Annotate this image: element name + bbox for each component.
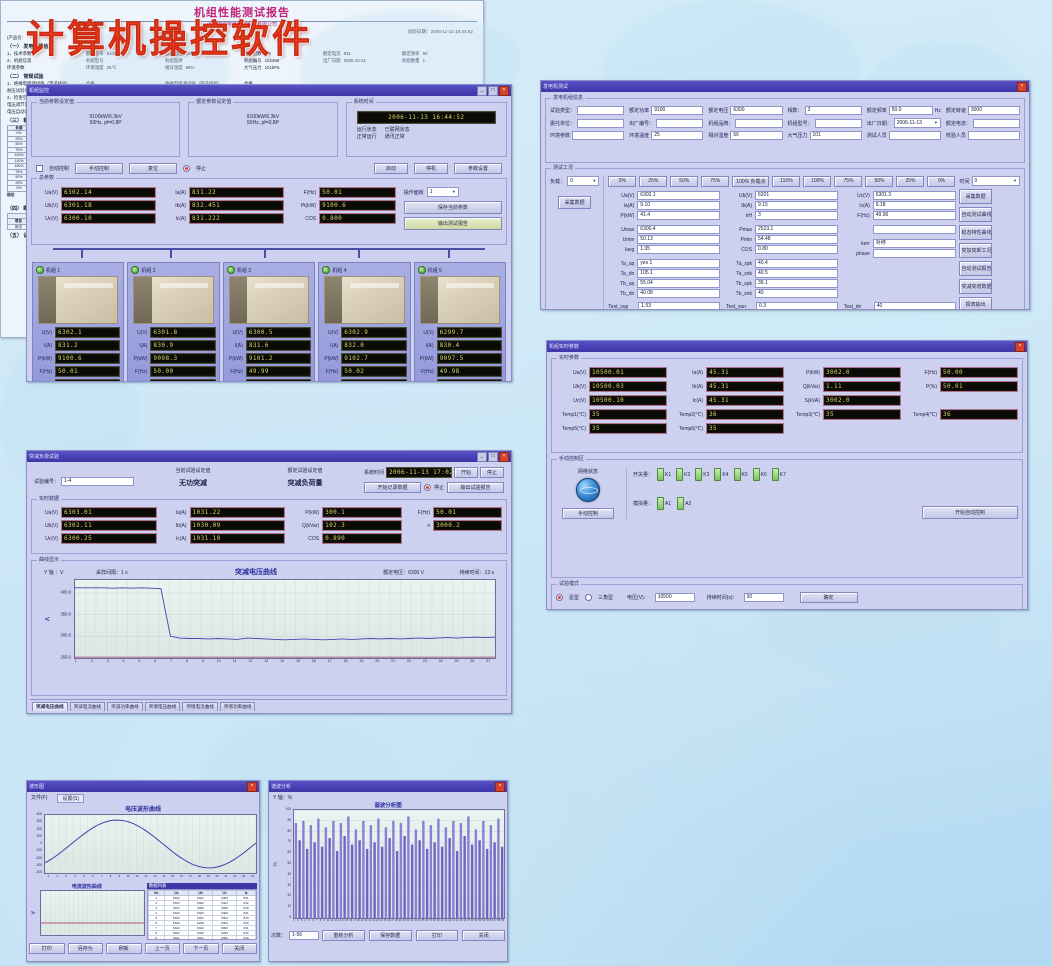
readout-key: U(V) bbox=[36, 330, 52, 336]
flat-wave-svg bbox=[41, 891, 144, 935]
harm-count-input[interactable]: 1-56 bbox=[289, 931, 319, 940]
wave-y-ticks: 4003002001000-100-200-300-400 bbox=[29, 814, 43, 872]
measure-value[interactable] bbox=[873, 225, 956, 234]
auto-control-checkbox[interactable] bbox=[36, 165, 43, 172]
titlebar-test[interactable]: 突减负荷试验 _ □ × bbox=[27, 451, 511, 462]
report-info-cell: 额定电流831 bbox=[323, 51, 398, 57]
load-step-button[interactable]: 25% bbox=[639, 176, 667, 187]
switch-toggle[interactable] bbox=[734, 468, 741, 481]
harmonic-bar bbox=[310, 825, 312, 918]
x-tick-label: 12 bbox=[142, 874, 151, 880]
voltage-drop-svg bbox=[75, 580, 495, 658]
measure-value[interactable]: 50.13 bbox=[637, 235, 720, 244]
switch-toggle[interactable] bbox=[676, 468, 683, 481]
measure-value[interactable]: 1.53 bbox=[638, 302, 720, 310]
x-tick-label: 3 bbox=[100, 659, 116, 663]
chevron-down-icon: ▼ bbox=[1013, 177, 1017, 185]
param-field-input[interactable] bbox=[968, 131, 1020, 140]
measure-row: Pmin54.48 bbox=[726, 235, 838, 244]
measure-value[interactable]: 40.5 bbox=[755, 269, 838, 278]
load-step-button[interactable]: 25% bbox=[896, 176, 924, 187]
param-field-label: 相对湿度 bbox=[708, 132, 728, 139]
stop-radio[interactable] bbox=[183, 165, 190, 172]
led-row: Ub(V)10500.03Ib(A)45.31Q(kVar)1.11P(%)50… bbox=[556, 381, 1018, 392]
harmonic-bar bbox=[325, 827, 327, 918]
titlebar-title: 机组监控 bbox=[29, 87, 477, 94]
measure-value[interactable]: 6301.3 bbox=[873, 191, 956, 200]
param-field-input[interactable] bbox=[973, 119, 1020, 128]
switch-bank[interactable]: K1K2K3K4K5K6K7 bbox=[657, 468, 790, 481]
window-main-control[interactable]: 机组监控 _ □ × 当前参数设定值 9100kW/6.3kV 50Hz, pf… bbox=[26, 84, 512, 382]
switch-label-item: K5 bbox=[742, 472, 748, 478]
measure-value[interactable] bbox=[873, 249, 956, 258]
param-field-label: 环境参数 bbox=[550, 132, 570, 139]
param-action-button[interactable]: 稳态特性曲线 bbox=[959, 225, 991, 240]
param-field-input[interactable] bbox=[572, 131, 624, 140]
param-field-select[interactable]: 2006-11-13▼ bbox=[894, 118, 941, 128]
param-field-label: 额定频率 bbox=[867, 107, 887, 114]
measure-key: Ta_spk bbox=[726, 261, 752, 267]
readout-value: 6300.25 bbox=[61, 533, 157, 544]
duration-field-input[interactable]: 30 bbox=[744, 593, 784, 602]
x-tick-label: 56 bbox=[501, 919, 505, 927]
param-action-buttons[interactable]: 时间0▼采集数据自动测试曲线稳态特性曲线突加突卸工况自动测试报告突减突增数据报表… bbox=[959, 176, 1020, 310]
load-step-buttons[interactable]: 0%25%50%75%100% 负载点110%100%75%50%25%0% bbox=[608, 176, 955, 187]
analog-label-item: A1 bbox=[665, 501, 671, 507]
record-data-button[interactable]: 开始记录数据 bbox=[364, 482, 421, 493]
head-rated-title: 额定试验设定值 bbox=[252, 467, 358, 474]
measure-value[interactable]: 6301 bbox=[755, 191, 838, 200]
close-button[interactable]: × bbox=[499, 452, 509, 462]
measure-value[interactable]: 9.15 bbox=[755, 201, 838, 210]
param-field-label: 测试人员 bbox=[867, 132, 887, 139]
minimize-button[interactable]: _ bbox=[477, 452, 487, 462]
measure-value[interactable]: 55.04 bbox=[637, 279, 720, 288]
window-load-test[interactable]: 突减负荷试验 _ □ × 试验编号： 1-4 当前试验设定值 无功突减 额定试验… bbox=[26, 450, 512, 714]
panel-select-row[interactable]: 操作面板 1 ▼ bbox=[404, 187, 502, 197]
readout-value: 45.31 bbox=[706, 367, 784, 378]
close-button[interactable]: × bbox=[499, 86, 509, 96]
harmonic-bar bbox=[295, 823, 297, 918]
harmonic-bar bbox=[497, 819, 499, 918]
waveform-footer-button[interactable]: 刷新 bbox=[106, 943, 142, 954]
param-field-input[interactable] bbox=[735, 119, 782, 128]
load-step-button[interactable]: 75% bbox=[834, 176, 862, 187]
switch-toggle[interactable] bbox=[695, 468, 702, 481]
x-tick-label: 22 bbox=[401, 659, 417, 663]
readout-key: Ib(A) bbox=[165, 523, 187, 529]
waveform-footer-button[interactable]: 关闭 bbox=[222, 943, 258, 954]
measure-value[interactable]: 9.10 bbox=[637, 201, 720, 210]
stop-button[interactable]: 停机 bbox=[414, 163, 448, 174]
param-time-select[interactable]: 0▼ bbox=[972, 176, 1021, 186]
titlebar-buttons[interactable]: _ □ × bbox=[477, 452, 509, 462]
table-row[interactable]: 9630163016302830 bbox=[148, 936, 255, 941]
chevron-down-icon: ▼ bbox=[592, 177, 596, 185]
report-info-label: 环境温度 bbox=[86, 65, 104, 71]
x-tick-label: 5 bbox=[80, 874, 89, 880]
chart-tab[interactable]: 突增功率曲线 bbox=[220, 702, 256, 711]
chart-duration-label: 持续时间：13 s bbox=[424, 569, 494, 576]
measure-row bbox=[844, 225, 956, 234]
device-header: 机组 5 bbox=[418, 266, 502, 274]
manual-control-button[interactable]: 手动控制 bbox=[75, 163, 123, 174]
measure-value[interactable]: 1.05 bbox=[637, 245, 720, 254]
readout-value: 830.4 bbox=[437, 340, 502, 351]
head-rated: 额定试验设定值 突减负荷量 bbox=[252, 467, 358, 488]
confirm-button[interactable]: 确定 bbox=[800, 592, 858, 603]
param-field-input[interactable] bbox=[815, 119, 862, 128]
load-step-button[interactable]: 100% bbox=[803, 176, 831, 187]
readout-key: n bbox=[227, 382, 243, 383]
readout-key: Ic(A) bbox=[164, 216, 186, 222]
param-field-input[interactable]: 50.0 bbox=[889, 106, 933, 115]
y-tick-label: 30 bbox=[287, 883, 291, 887]
readout-column-power: F(Hz) 50.01 Pt(kW) 9100.6 COS 0.800 bbox=[292, 187, 396, 230]
chart-rated-label: 额定电压：6300 V bbox=[346, 569, 424, 576]
measure-value[interactable]: 40 bbox=[755, 289, 838, 298]
waveform-footer-buttons[interactable]: 打印另存为刷新上一页下一页关闭 bbox=[29, 943, 257, 954]
load-step-button[interactable]: 100% 负载点 bbox=[732, 176, 769, 187]
param-field-input[interactable]: 3000 bbox=[968, 106, 1020, 115]
readout-value: 6300.5 bbox=[246, 327, 311, 338]
readout-key: n bbox=[418, 382, 434, 383]
window-waveform[interactable]: 波形图 × 文件(F) 设置(S) 电压波形曲线 4003002001000-1… bbox=[26, 780, 260, 962]
measure-bottom-field: Test_sup1.53 bbox=[608, 302, 720, 310]
analog-bank[interactable]: A1A2 bbox=[657, 497, 696, 510]
measure-value[interactable]: yes 1 bbox=[637, 259, 720, 268]
harmonics-footer-button[interactable]: 关闭 bbox=[462, 930, 505, 941]
param-field-input[interactable]: 9100 bbox=[651, 106, 703, 115]
data-table[interactable]: NoUaUbUcIa163026301630083126303630263018… bbox=[147, 889, 257, 940]
x-tick-label: 11 bbox=[227, 659, 243, 663]
led-field: Temp3(℃)35 bbox=[790, 409, 901, 420]
minimize-button[interactable]: _ bbox=[477, 86, 487, 96]
x-tick-label: 4 bbox=[116, 659, 132, 663]
param-field-label: 大气压力 bbox=[788, 132, 808, 139]
export-report-button[interactable]: 输出试验报告 bbox=[447, 482, 504, 493]
measure-row: Ia(A)9.10 bbox=[608, 201, 720, 210]
y-tick-label: -400 bbox=[36, 870, 42, 874]
device-readout-row: n3000.2 bbox=[36, 379, 120, 382]
device-title: 机组 5 bbox=[428, 267, 442, 274]
collect-data-button[interactable]: 采集数据 bbox=[558, 196, 591, 209]
load-step-button[interactable]: 0% bbox=[608, 176, 636, 187]
panel-select-value: 1 bbox=[430, 188, 433, 196]
x-tick-label: 26 bbox=[464, 659, 480, 663]
wave-chart-title: 电压波形曲线 bbox=[29, 804, 257, 813]
harmonic-bar bbox=[377, 819, 379, 918]
param-field-input[interactable]: 6300 bbox=[730, 106, 782, 115]
analog-toggle[interactable] bbox=[677, 497, 684, 510]
mode-delta-radio[interactable] bbox=[585, 594, 592, 601]
readout-key: I(A) bbox=[131, 343, 147, 349]
chart-tab[interactable]: 突减功率曲线 bbox=[107, 702, 143, 711]
load-step-button[interactable]: 50% bbox=[865, 176, 893, 187]
manual-control-button[interactable]: 手动控制 bbox=[562, 508, 614, 519]
load-step-button[interactable]: 0% bbox=[927, 176, 955, 187]
readout-key: F(Hz) bbox=[36, 369, 52, 375]
x-tick-label: 6 bbox=[88, 874, 97, 880]
param-field-input[interactable] bbox=[656, 119, 703, 128]
readout-value: 0.800 bbox=[319, 213, 396, 224]
group-legend: 测试工况 bbox=[551, 164, 575, 171]
maximize-button[interactable]: □ bbox=[488, 452, 498, 462]
load-select[interactable]: 0 ▼ bbox=[567, 176, 599, 186]
x-tick-label: 7 bbox=[97, 874, 106, 880]
param-field-input[interactable]: 101 bbox=[810, 131, 862, 140]
measure-value[interactable]: 40 bbox=[874, 302, 956, 310]
readout-key: Ua(V) bbox=[36, 190, 58, 196]
waveform-footer-button[interactable]: 另存为 bbox=[68, 943, 104, 954]
close-button[interactable]: × bbox=[1015, 342, 1025, 352]
param-row: 试验类型：额定功率9100额定电压6300相数：3额定频率50.0Hz额定转速3… bbox=[550, 106, 1020, 115]
report-info-cell: 机组数量1 bbox=[402, 58, 477, 64]
menu-file[interactable]: 文件(F) bbox=[31, 794, 47, 803]
readout-value: 2998.9 bbox=[437, 379, 502, 382]
param-field-input[interactable]: 3 bbox=[805, 106, 862, 115]
param-field-value: 2006-11-13 bbox=[897, 119, 922, 127]
x-tick-label: 24 bbox=[433, 659, 449, 663]
param-field-input[interactable] bbox=[889, 131, 941, 140]
readout-value: 9100.6 bbox=[319, 200, 396, 211]
harmonic-bar bbox=[493, 842, 495, 918]
measure-row: COS0.80 bbox=[726, 245, 838, 254]
load-step-button[interactable]: 75% bbox=[701, 176, 729, 187]
x-tick-label: 9 bbox=[195, 659, 211, 663]
analog-label-item: A2 bbox=[685, 501, 691, 507]
readout-value: 10500.03 bbox=[589, 381, 667, 392]
measure-value[interactable]: 6302.1 bbox=[637, 191, 720, 200]
param-field-input[interactable] bbox=[577, 119, 624, 128]
param-action-button[interactable]: 自动测试报告 bbox=[959, 261, 991, 276]
led-field: Temp1(℃)35 bbox=[556, 409, 667, 420]
load-step-button[interactable]: 50% bbox=[670, 176, 698, 187]
param-action-button[interactable]: 突加突卸工况 bbox=[959, 243, 991, 258]
param-action-button[interactable]: 自动测试曲线 bbox=[959, 207, 991, 222]
mode-star-radio[interactable] bbox=[556, 594, 563, 601]
harmonic-bar bbox=[332, 821, 334, 918]
device-panel: 机组 1U(V)6302.1I(A)831.2P(kW)9100.6F(Hz)5… bbox=[32, 262, 124, 382]
switch-toggle[interactable] bbox=[772, 468, 779, 481]
y-tick-label: 50 bbox=[287, 861, 291, 865]
readout-key: Ua(V) bbox=[36, 510, 58, 516]
start-button[interactable]: 启动 bbox=[374, 163, 408, 174]
param-action-button[interactable]: 采集数据 bbox=[959, 189, 991, 204]
harmonic-bar bbox=[415, 829, 417, 918]
titlebar-title: 发电机测试 bbox=[543, 83, 1017, 90]
param-field: 测试人员 bbox=[867, 131, 941, 140]
report-date-value: 2006-11-13 16:44:52 bbox=[431, 29, 473, 35]
harmonic-bar bbox=[460, 823, 462, 918]
readout-row: Pt(kW) 9100.6 bbox=[292, 200, 396, 211]
menu-settings[interactable]: 设置(S) bbox=[57, 794, 84, 803]
x-tick-label: 25 bbox=[449, 659, 465, 663]
readout-row: F(Hz) 50.01 bbox=[292, 187, 396, 198]
switch-toggle[interactable] bbox=[657, 468, 664, 481]
param-field-input[interactable]: 56 bbox=[730, 131, 782, 140]
measure-value[interactable]: 0.3 bbox=[756, 302, 838, 310]
y-tick-label: 100 bbox=[37, 834, 42, 838]
report-section-2: （二） 常规试验 bbox=[7, 73, 477, 80]
titlebar-harmonics[interactable]: 谐波分析 × bbox=[269, 781, 507, 792]
param-field: 额定转速3000 bbox=[946, 106, 1020, 115]
save-params-button[interactable]: 保存当前参数 bbox=[404, 201, 502, 214]
param-field-input[interactable]: 25 bbox=[651, 131, 703, 140]
report-info-row: 环境参数环境温度25℃相对湿度56%大气压力101kPa bbox=[7, 65, 477, 71]
led-field: Ib(A)45.31 bbox=[673, 381, 784, 392]
chart-tabbar[interactable]: 突减电压曲线突减电流曲线突减功率曲线突增电压曲线突增电流曲线突增功率曲线 bbox=[30, 699, 508, 711]
measure-row: Ta_spk40.4 bbox=[726, 259, 838, 268]
measure-value[interactable]: 9.18 bbox=[873, 201, 956, 210]
test-stop-button[interactable]: 停止 bbox=[480, 467, 504, 478]
measure-value[interactable]: 0.80 bbox=[755, 245, 838, 254]
group-chart: 曲线显示 Y 轴 ：V 采样间隔：1 s 突减电压曲线 额定电压：6300 V … bbox=[31, 560, 507, 696]
harmonics-footer-button[interactable]: 保存数据 bbox=[369, 930, 412, 941]
measure-row: Ta_upyes 1 bbox=[608, 259, 720, 268]
x-tick-label: 27 bbox=[480, 659, 496, 663]
output-report-button[interactable]: 输出测试报告 bbox=[404, 217, 502, 230]
titlebar-title: 机组实时参数 bbox=[549, 343, 1015, 350]
measure-value[interactable]: 对称 bbox=[873, 239, 956, 248]
current-waveform-chart bbox=[40, 890, 145, 936]
group-legend: 曲线显示 bbox=[37, 556, 61, 563]
titlebar-buttons[interactable]: _ □ × bbox=[477, 86, 509, 96]
titlebar-meas[interactable]: 机组实时参数 × bbox=[547, 341, 1027, 352]
chart-tab[interactable]: 突增电压曲线 bbox=[145, 702, 181, 711]
chart-y-ticks: 250.0300.0350.0400.0 bbox=[52, 579, 72, 657]
measure-value[interactable]: 40.4 bbox=[755, 259, 838, 268]
window-harmonics[interactable]: 谐波分析 × Y 轴：% 谐波分析图 % 1009080706050403020… bbox=[268, 780, 508, 962]
readout-key: Ub(V) bbox=[36, 523, 58, 529]
measure-value[interactable]: 49.96 bbox=[873, 211, 956, 220]
table-cell: 6302 bbox=[213, 936, 237, 941]
chart-title: 突减电压曲线 bbox=[166, 567, 346, 577]
close-button[interactable]: × bbox=[1017, 82, 1027, 92]
x-tick-label: 12 bbox=[242, 659, 258, 663]
report-info-label: 额定电流 bbox=[323, 51, 341, 57]
measure-key: Tb_up bbox=[608, 281, 634, 287]
waveform-footer-button[interactable]: 打印 bbox=[29, 943, 65, 954]
param-row: 环境参数环境温度25相对湿度56大气压力101测试人员校验人员 bbox=[550, 131, 1020, 140]
harmonic-bar bbox=[340, 823, 342, 918]
close-button[interactable]: × bbox=[247, 782, 257, 792]
param-field-label: 额定转速 bbox=[946, 107, 966, 114]
close-button[interactable]: × bbox=[495, 782, 505, 792]
test-id-input[interactable]: 1-4 bbox=[61, 477, 134, 486]
switch-toggle[interactable] bbox=[714, 468, 721, 481]
readout-key: Ib(A) bbox=[164, 203, 186, 209]
test-start-button[interactable]: 开始 bbox=[454, 467, 478, 478]
stop-radio[interactable] bbox=[424, 484, 431, 491]
measure-value[interactable]: 39.1 bbox=[755, 279, 838, 288]
titlebar-main[interactable]: 机组监控 _ □ × bbox=[27, 85, 511, 96]
param-time-field: 时间0▼ bbox=[959, 176, 1020, 186]
measure-value[interactable]: 54.48 bbox=[755, 235, 838, 244]
x-tick-label: 19 bbox=[353, 659, 369, 663]
readout-key: Q(kVar) bbox=[293, 523, 319, 529]
rated-freq: 50Hz, pf=0.8P bbox=[193, 120, 332, 126]
device-panel: 机组 4U(V)6302.9I(A)832.0P(kW)9102.7F(Hz)5… bbox=[318, 262, 410, 382]
measure-value[interactable]: 3 bbox=[755, 211, 838, 220]
readout-key: Uc(V) bbox=[36, 536, 58, 542]
group-total-data: 总参数 Ua(V) 6302.14 Ub(V) 6301.18 Uc(V) 63… bbox=[31, 178, 507, 245]
voltage-field-input[interactable]: 10500 bbox=[655, 593, 695, 602]
window-generator-test[interactable]: 发电机测试 × 发电机组信息 试验类型：额定功率9100额定电压6300相数：3… bbox=[540, 80, 1030, 310]
readout-key: Uc(V) bbox=[556, 398, 586, 404]
waveform-footer-button[interactable]: 上一页 bbox=[145, 943, 181, 954]
auto-control-button[interactable]: 开始自动控制 bbox=[922, 506, 1018, 519]
load-step-button[interactable]: 110% bbox=[772, 176, 800, 187]
switch-label-item: K2 bbox=[684, 472, 690, 478]
harmonics-footer-button[interactable]: 打印 bbox=[416, 930, 459, 941]
switch-toggle[interactable] bbox=[753, 468, 760, 481]
param-field-input[interactable] bbox=[577, 106, 624, 115]
x-tick-label: 20 bbox=[369, 659, 385, 663]
device-readout-row: F(Hz)50.02 bbox=[322, 366, 406, 377]
param-field: 相对湿度56 bbox=[708, 131, 782, 140]
window-realtime-params[interactable]: 机组实时参数 × 实时参数 Ua(V)10500.01Ia(A)45.31P(k… bbox=[546, 340, 1028, 610]
readout-key: Temp4(℃) bbox=[907, 412, 937, 418]
analog-toggle[interactable] bbox=[657, 497, 664, 510]
harmonic-bar bbox=[385, 827, 387, 918]
chart-tab[interactable]: 突减电压曲线 bbox=[32, 702, 68, 711]
panel-select[interactable]: 1 ▼ bbox=[427, 187, 459, 197]
harmonic-bar bbox=[302, 821, 304, 918]
readout-value: 9101.2 bbox=[246, 353, 311, 364]
device-readout-row: I(A)831.6 bbox=[227, 340, 311, 351]
y-tick-label: 40 bbox=[287, 872, 291, 876]
readout-key: F(Hz) bbox=[410, 510, 430, 516]
chart-tab[interactable]: 突增电流曲线 bbox=[182, 702, 218, 711]
measure-value[interactable]: 41.4 bbox=[637, 211, 720, 220]
measure-value[interactable]: 6300.4 bbox=[637, 225, 720, 234]
harmonics-footer-buttons[interactable]: 重新分析保存数据打印关闭 bbox=[322, 930, 505, 941]
harmonic-bar bbox=[456, 851, 458, 918]
titlebar-waveform[interactable]: 波形图 × bbox=[27, 781, 259, 792]
led-field: P(%)50.01 bbox=[907, 381, 1018, 392]
measure-value[interactable]: 105.1 bbox=[637, 269, 720, 278]
led-row: Temp1(℃)35Temp2(℃)36Temp3(℃)35Temp4(℃)36 bbox=[556, 409, 1018, 420]
measure-value[interactable]: 40.08 bbox=[637, 289, 720, 298]
chart-tab[interactable]: 突减电流曲线 bbox=[70, 702, 106, 711]
voltage-drop-chart bbox=[74, 579, 496, 659]
head-current: 当前试验设定值 无功突减 bbox=[140, 467, 246, 488]
readout-key: P(kW) bbox=[293, 510, 319, 516]
readout-key: n bbox=[410, 523, 430, 529]
settings-button[interactable]: 参数设置 bbox=[454, 163, 502, 174]
x-tick-label: 5 bbox=[131, 659, 147, 663]
maximize-button[interactable]: □ bbox=[488, 86, 498, 96]
group-legend: 试验模式 bbox=[557, 580, 581, 587]
table-cell: 6301 bbox=[164, 936, 188, 941]
titlebar-param[interactable]: 发电机测试 × bbox=[541, 81, 1029, 92]
harmonics-footer-button[interactable]: 重新分析 bbox=[322, 930, 365, 941]
head-rated-sub: 突减负荷量 bbox=[252, 478, 358, 488]
reset-button[interactable]: 复位 bbox=[129, 163, 177, 174]
param-field: 额定功率9100 bbox=[629, 106, 703, 115]
param-action-button[interactable]: 报表输出 bbox=[959, 297, 991, 310]
waveform-footer-button[interactable]: 下一页 bbox=[183, 943, 219, 954]
measure-value[interactable]: 2523.1 bbox=[755, 225, 838, 234]
measure-key: Tb_dn bbox=[608, 291, 634, 297]
device-readout-row: n3001.1 bbox=[322, 379, 406, 382]
measure-key: P(kW) bbox=[608, 213, 634, 219]
param-action-button[interactable]: 突减突增数据 bbox=[959, 279, 991, 294]
sine-wave-svg bbox=[45, 815, 256, 873]
report-info-value: 50 bbox=[423, 51, 428, 57]
param-field-label: 机组型号： bbox=[788, 120, 813, 127]
